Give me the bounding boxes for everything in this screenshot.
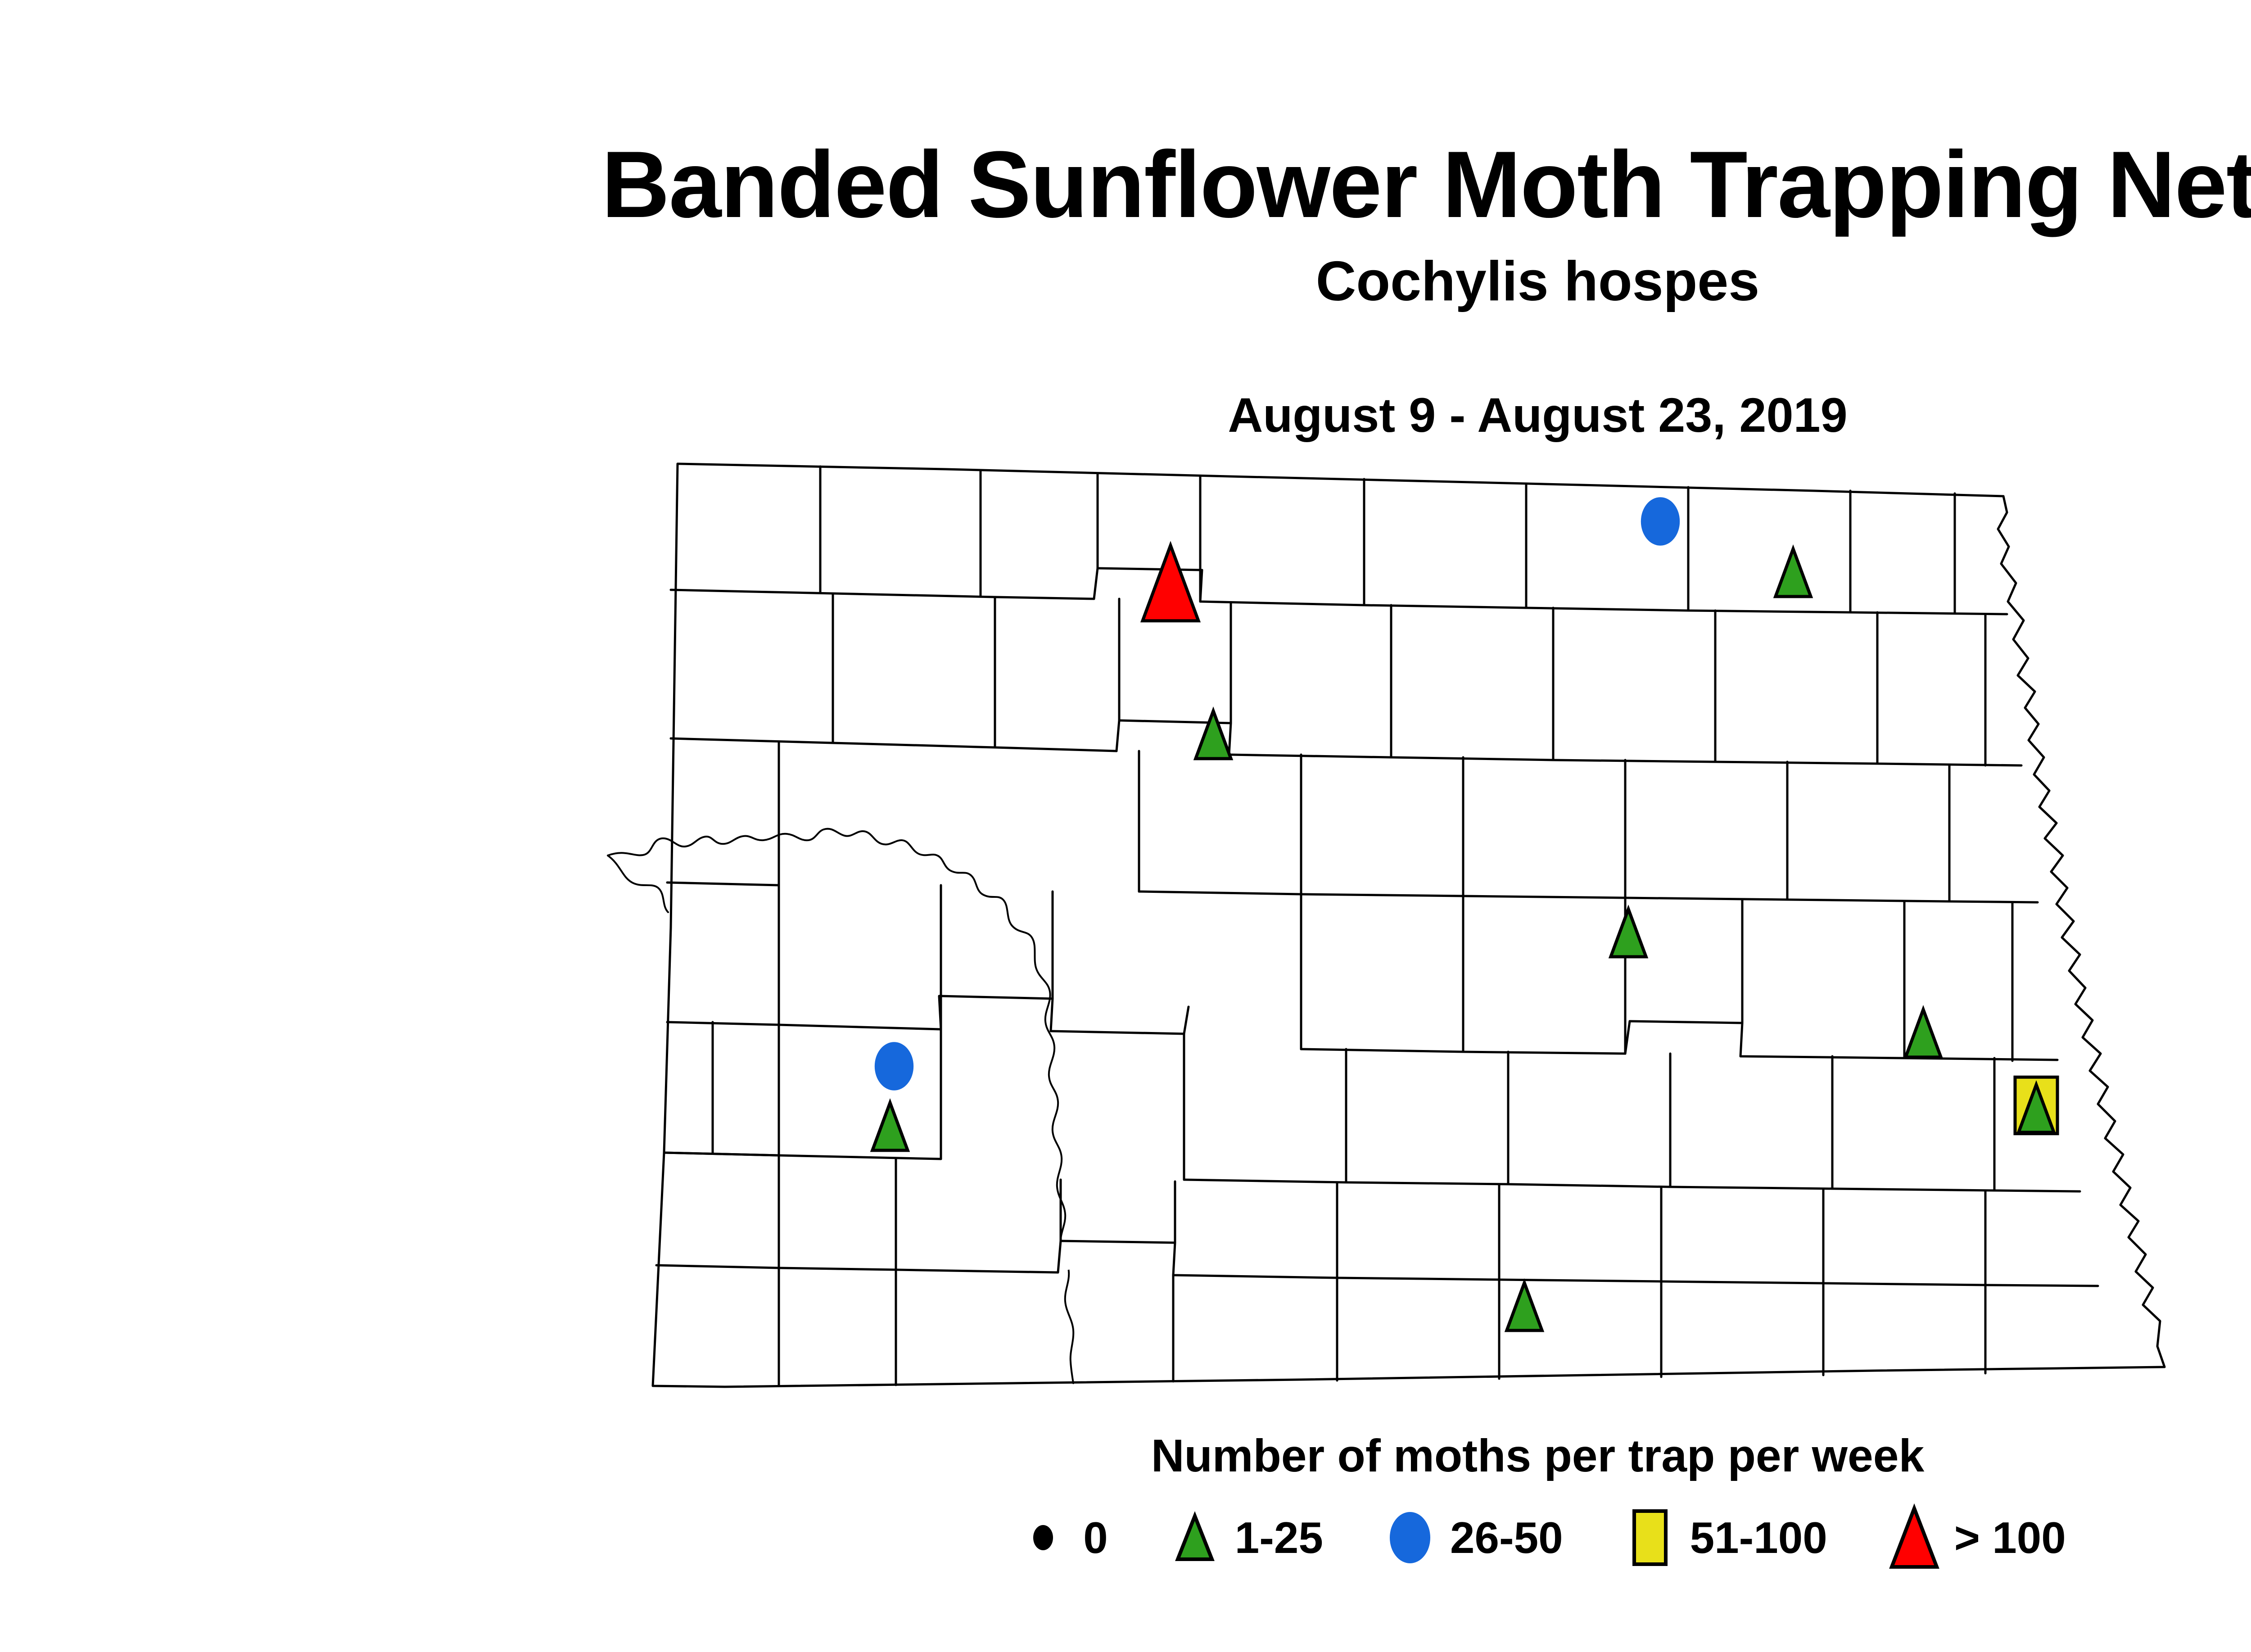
poster-canvas: Banded Sunflower Moth Trapping Network C… bbox=[0, 0, 2251, 1652]
legend-triangle-icon bbox=[1880, 1499, 1948, 1576]
legend-label: 1-25 bbox=[1235, 1512, 1323, 1563]
date-range-label: August 9 - August 23, 2019 bbox=[0, 389, 2251, 440]
map-svg bbox=[599, 450, 2219, 1418]
legend-dot-icon bbox=[1009, 1499, 1077, 1576]
county-boundaries bbox=[608, 464, 2165, 1387]
lake-sakakawea-arm bbox=[608, 855, 668, 912]
legend-item-51-100: 51-100 bbox=[1616, 1499, 1827, 1576]
legend: 01-2526-5051-100> 100 bbox=[0, 1499, 2251, 1576]
legend-item-1-25: 1-25 bbox=[1161, 1499, 1323, 1576]
legend-label: 51-100 bbox=[1690, 1512, 1827, 1563]
legend-label: 0 bbox=[1083, 1512, 1108, 1563]
species-subtitle: Cochylis hospes bbox=[0, 252, 2251, 311]
legend-item-26-50: 26-50 bbox=[1376, 1499, 1563, 1576]
legend-item--100: > 100 bbox=[1880, 1499, 2066, 1576]
legend-label: 26-50 bbox=[1450, 1512, 1563, 1563]
legend-title: Number of moths per trap per week bbox=[0, 1430, 2251, 1482]
north-dakota-map[interactable] bbox=[599, 450, 2219, 1418]
page-title: Banded Sunflower Moth Trapping Network bbox=[0, 135, 2251, 235]
trap-marker-m7[interactable] bbox=[875, 1042, 913, 1091]
trap-marker-m2[interactable] bbox=[1641, 497, 1680, 546]
legend-circle-icon bbox=[1376, 1499, 1444, 1576]
legend-item-0: 0 bbox=[1009, 1499, 1108, 1576]
legend-triangle-icon bbox=[1161, 1499, 1229, 1576]
legend-square-icon bbox=[1616, 1499, 1684, 1576]
legend-label: > 100 bbox=[1954, 1512, 2066, 1563]
